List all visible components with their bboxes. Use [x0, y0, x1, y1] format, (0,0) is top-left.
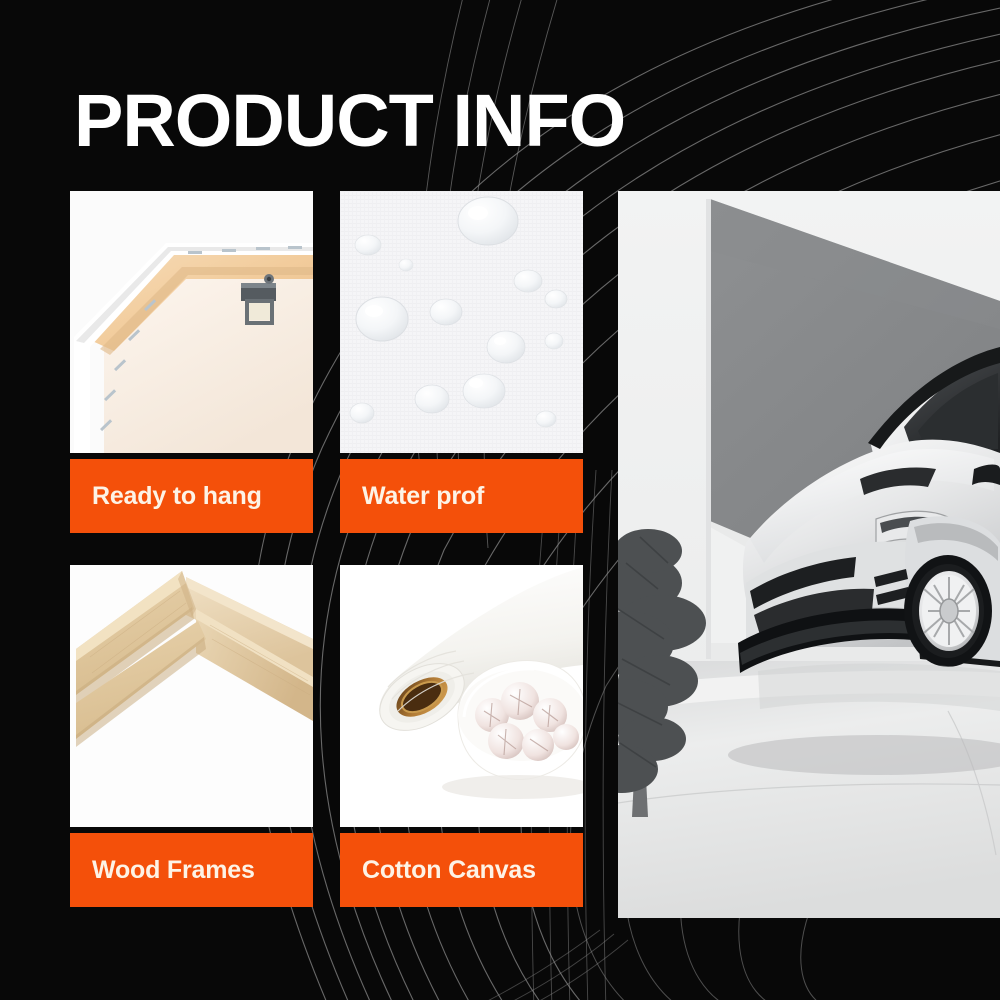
- feature-card-cotton-canvas[interactable]: Cotton Canvas: [340, 565, 583, 907]
- feature-card-water-proof[interactable]: Water prof: [340, 191, 583, 533]
- feature-card-wood-frames[interactable]: Wood Frames: [70, 565, 313, 907]
- page-title: PRODUCT INFO: [74, 84, 625, 158]
- feature-card-ready-to-hang[interactable]: Ready to hang: [70, 191, 313, 533]
- water-droplets-on-canvas-image: [340, 191, 583, 453]
- canvas-back-hanging-hook-image: [70, 191, 313, 453]
- wooden-stretcher-bars-image: [70, 565, 313, 827]
- hero-sports-car-image: [618, 191, 1000, 918]
- feature-label-water-proof[interactable]: Water prof: [340, 459, 583, 533]
- feature-label-text: Water prof: [362, 482, 484, 511]
- cotton-canvas-roll-image: [340, 565, 583, 827]
- feature-label-text: Cotton Canvas: [362, 856, 536, 885]
- feature-label-text: Wood Frames: [92, 856, 255, 885]
- feature-label-cotton-canvas[interactable]: Cotton Canvas: [340, 833, 583, 907]
- feature-label-wood-frames[interactable]: Wood Frames: [70, 833, 313, 907]
- feature-label-ready-to-hang[interactable]: Ready to hang: [70, 459, 313, 533]
- feature-label-text: Ready to hang: [92, 482, 262, 511]
